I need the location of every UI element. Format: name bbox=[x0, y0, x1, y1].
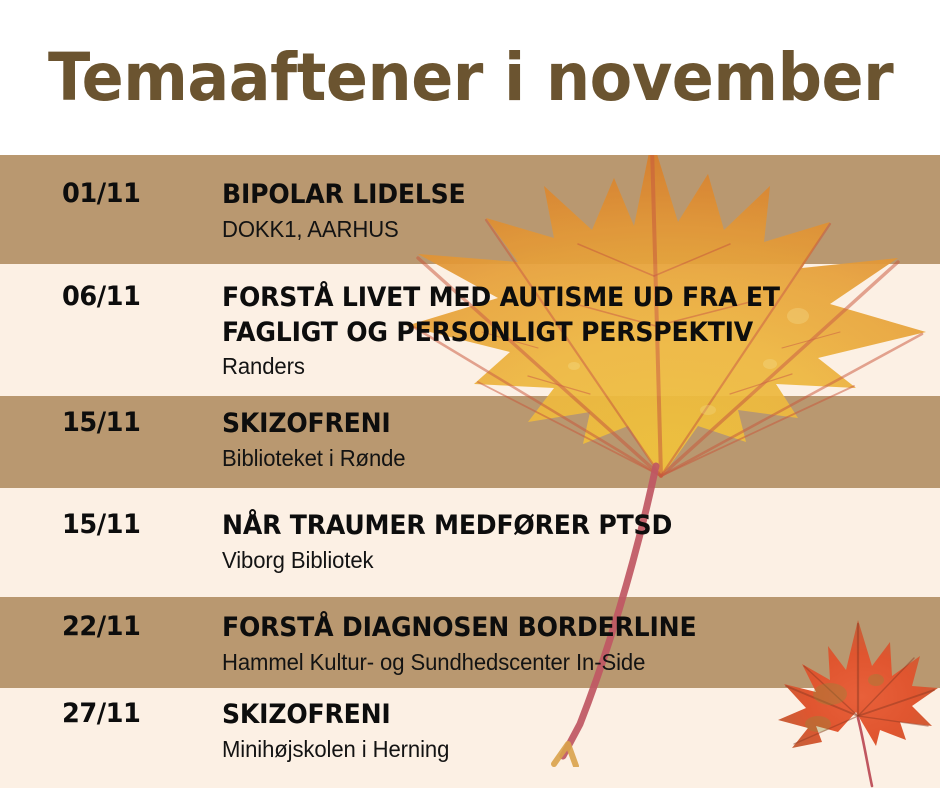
event-venue: Hammel Kultur- og Sundhedscenter In-Side bbox=[222, 648, 902, 677]
event-venue: Biblioteket i Rønde bbox=[222, 444, 902, 473]
poster-canvas: Temaaftener i november 01/11 BIPOLAR LID… bbox=[0, 0, 940, 788]
event-body: NÅR TRAUMER MEDFØRER PTSD Viborg Bibliot… bbox=[222, 509, 930, 574]
event-date: 06/11 bbox=[62, 281, 140, 312]
event-venue: DOKK1, AARHUS bbox=[222, 215, 902, 244]
title-bar: Temaaftener i november bbox=[0, 0, 940, 155]
event-date: 15/11 bbox=[62, 407, 140, 438]
event-body: FORSTÅ LIVET MED AUTISME UD FRA ET FAGLI… bbox=[222, 281, 930, 381]
event-venue: Minihøjskolen i Herning bbox=[222, 735, 902, 764]
event-title: FORSTÅ DIAGNOSEN BORDERLINE bbox=[222, 611, 880, 646]
event-title-line2: FAGLIGT OG PERSONLIGT PERSPEKTIV bbox=[222, 316, 880, 351]
event-body: SKIZOFRENI Minihøjskolen i Herning bbox=[222, 698, 930, 763]
event-body: BIPOLAR LIDELSE DOKK1, AARHUS bbox=[222, 178, 930, 243]
event-date: 15/11 bbox=[62, 509, 140, 540]
event-date: 01/11 bbox=[62, 178, 140, 209]
event-title: NÅR TRAUMER MEDFØRER PTSD bbox=[222, 509, 880, 544]
event-venue: Randers bbox=[222, 352, 902, 381]
event-body: SKIZOFRENI Biblioteket i Rønde bbox=[222, 407, 930, 472]
event-title: BIPOLAR LIDELSE bbox=[222, 178, 880, 213]
event-date: 27/11 bbox=[62, 698, 140, 729]
page-title: Temaaftener i november bbox=[48, 45, 893, 111]
event-title: SKIZOFRENI bbox=[222, 698, 880, 733]
event-title: FORSTÅ LIVET MED AUTISME UD FRA ET bbox=[222, 281, 880, 316]
event-title: SKIZOFRENI bbox=[222, 407, 880, 442]
event-date: 22/11 bbox=[62, 611, 140, 642]
event-body: FORSTÅ DIAGNOSEN BORDERLINE Hammel Kultu… bbox=[222, 611, 930, 676]
event-venue: Viborg Bibliotek bbox=[222, 546, 902, 575]
